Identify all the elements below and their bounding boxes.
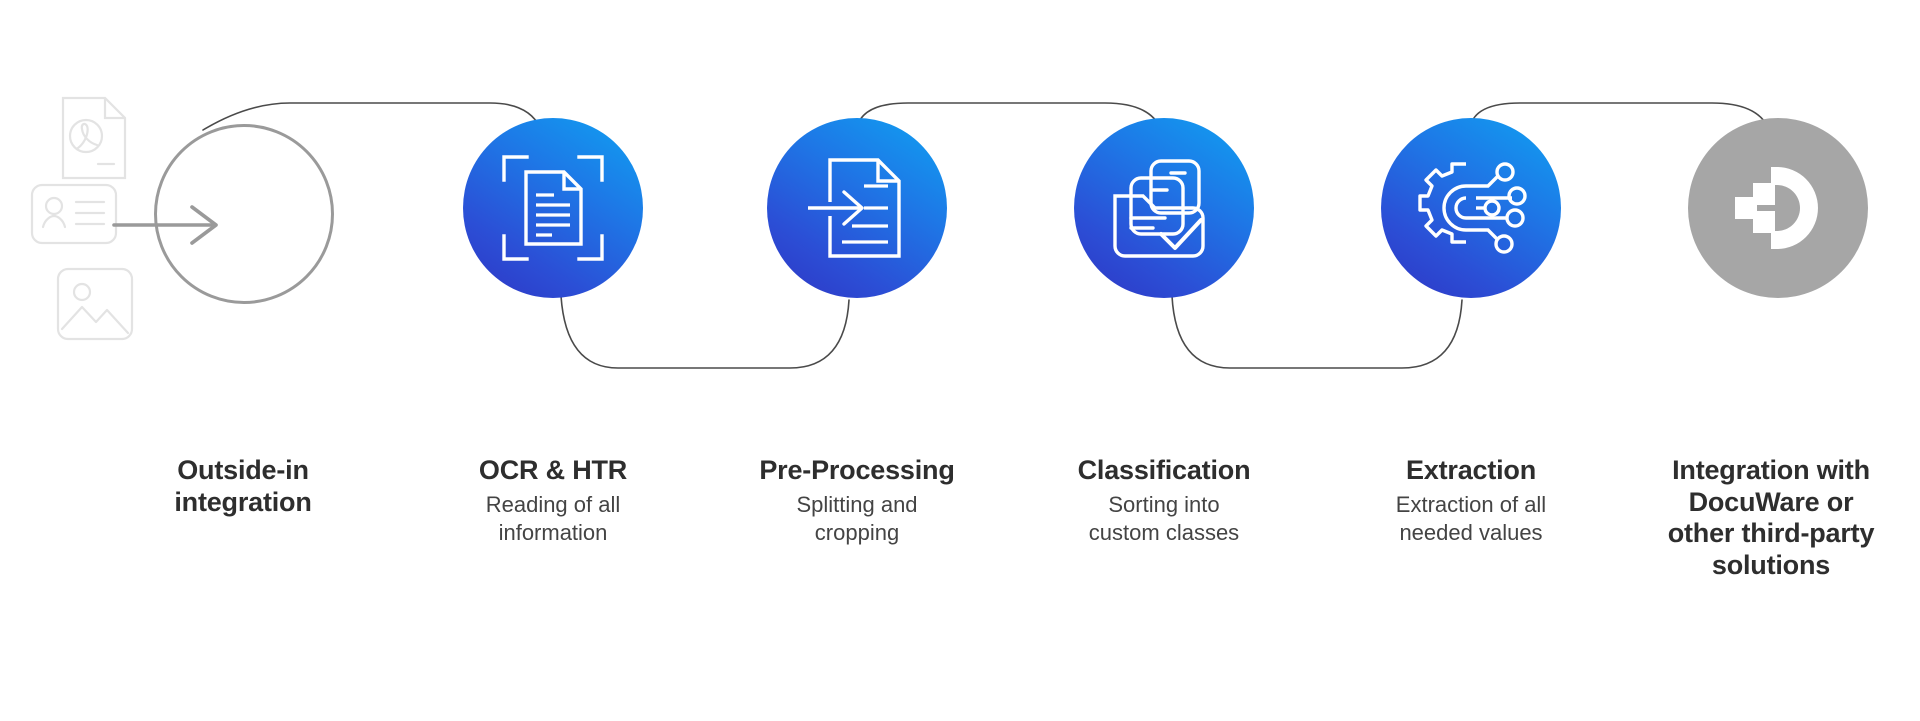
id-card-icon [30,183,118,250]
caption-title: Integration with DocuWare or other third… [1625,455,1917,581]
connector-layer [0,0,1920,721]
pdf-document-icon [58,95,130,186]
step-node-integration[interactable] [1688,118,1868,298]
step-node-classification[interactable] [1074,118,1254,298]
step-node-ocr-htr[interactable] [463,118,643,298]
caption-subtitle: Reading of all information [408,491,698,547]
document-import-arrow-icon [802,156,912,260]
caption-extraction: Extraction Extraction of all needed valu… [1326,455,1616,547]
image-file-icon [56,267,134,346]
connector-bottom-2 [1172,296,1462,368]
caption-title: Extraction [1326,455,1616,487]
caption-integration: Integration with DocuWare or other third… [1625,455,1917,585]
process-flow-diagram: Outside-in integration OCR & HTR Reading… [0,0,1920,721]
caption-pre-processing: Pre-Processing Splitting and cropping [712,455,1002,547]
caption-title: OCR & HTR [408,455,698,487]
intake-arrow-icon [110,205,230,245]
caption-ocr-htr: OCR & HTR Reading of all information [408,455,698,547]
docuware-logo-icon [1719,149,1837,267]
caption-title: Outside-in integration [98,455,388,518]
folders-check-icon [1109,156,1219,260]
caption-classification: Classification Sorting into custom class… [1019,455,1309,547]
document-scan-icon [501,154,605,262]
caption-title: Classification [1019,455,1309,487]
step-node-pre-processing[interactable] [767,118,947,298]
caption-title: Pre-Processing [712,455,1002,487]
caption-subtitle: Sorting into custom classes [1019,491,1309,547]
caption-subtitle: Extraction of all needed values [1326,491,1616,547]
caption-subtitle: Splitting and cropping [712,491,1002,547]
connector-bottom-1 [561,296,849,368]
step-node-extraction[interactable] [1381,118,1561,298]
caption-outside-in-integration: Outside-in integration [98,455,388,522]
gear-circuit-icon [1414,158,1528,258]
